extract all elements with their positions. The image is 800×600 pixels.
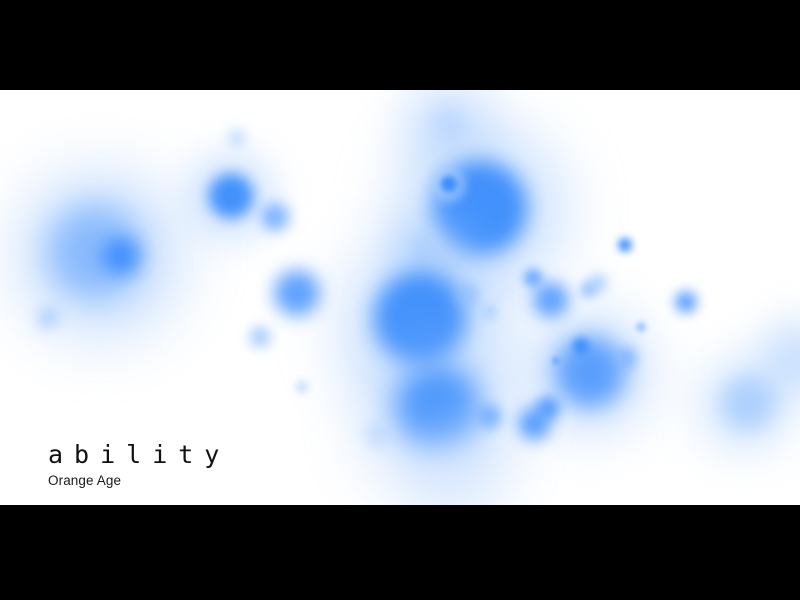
bokeh-circle: [618, 238, 632, 252]
letterbox-bar-bottom: [0, 505, 800, 600]
bokeh-circle: [366, 423, 390, 447]
bokeh-circle: [536, 396, 560, 420]
bokeh-circle: [296, 381, 308, 393]
bokeh-circle: [398, 128, 562, 292]
bokeh-circle: [229, 130, 245, 146]
bokeh-circle: [457, 284, 479, 306]
bokeh-circle: [532, 314, 648, 430]
video-frame: ability Orange Age: [0, 0, 800, 600]
bokeh-circle: [396, 366, 480, 450]
bokeh-circle: [412, 234, 440, 262]
bokeh-circle: [37, 307, 59, 329]
letterbox-bar-top: [0, 0, 800, 90]
bokeh-circle: [102, 237, 140, 275]
bokeh-circle: [589, 274, 607, 292]
bokeh-circle: [50, 207, 140, 297]
bokeh-circle: [573, 338, 589, 354]
bokeh-circle: [209, 174, 253, 218]
bokeh-circle: [636, 322, 646, 332]
bokeh-circle: [430, 167, 466, 203]
bokeh-circle: [477, 405, 501, 429]
bokeh-circle: [441, 176, 457, 192]
bokeh-circle: [433, 161, 527, 255]
bokeh-circle: [763, 324, 800, 392]
bokeh-circle: [422, 398, 450, 426]
bokeh-circle: [552, 357, 560, 365]
bokeh-circle: [261, 203, 289, 231]
subtitle-text: Orange Age: [48, 473, 230, 489]
bokeh-circle: [400, 416, 504, 505]
bokeh-circle: [555, 337, 625, 407]
title-text: ability: [48, 442, 230, 468]
bokeh-circle: [432, 106, 464, 138]
bokeh-circle: [580, 282, 596, 298]
bokeh-circle: [400, 90, 496, 173]
bokeh-circle: [274, 270, 320, 316]
bokeh-circle: [701, 361, 789, 449]
bokeh-circle: [191, 156, 271, 236]
bokeh-circle: [518, 408, 550, 440]
bokeh-circle: [617, 348, 637, 368]
bokeh-circle: [722, 377, 774, 429]
bokeh-circle: [22, 177, 178, 333]
bokeh-circle: [249, 326, 271, 348]
bokeh-circle: [481, 304, 497, 320]
caption-block: ability Orange Age: [48, 442, 230, 489]
bokeh-circle: [374, 272, 466, 364]
bokeh-circle: [344, 246, 496, 398]
artwork-canvas: ability Orange Age: [0, 90, 800, 505]
bokeh-circle: [533, 282, 569, 318]
bokeh-circle: [675, 291, 697, 313]
bokeh-circle: [524, 269, 542, 287]
bokeh-circle: [366, 338, 510, 482]
bokeh-circle: [394, 222, 466, 294]
